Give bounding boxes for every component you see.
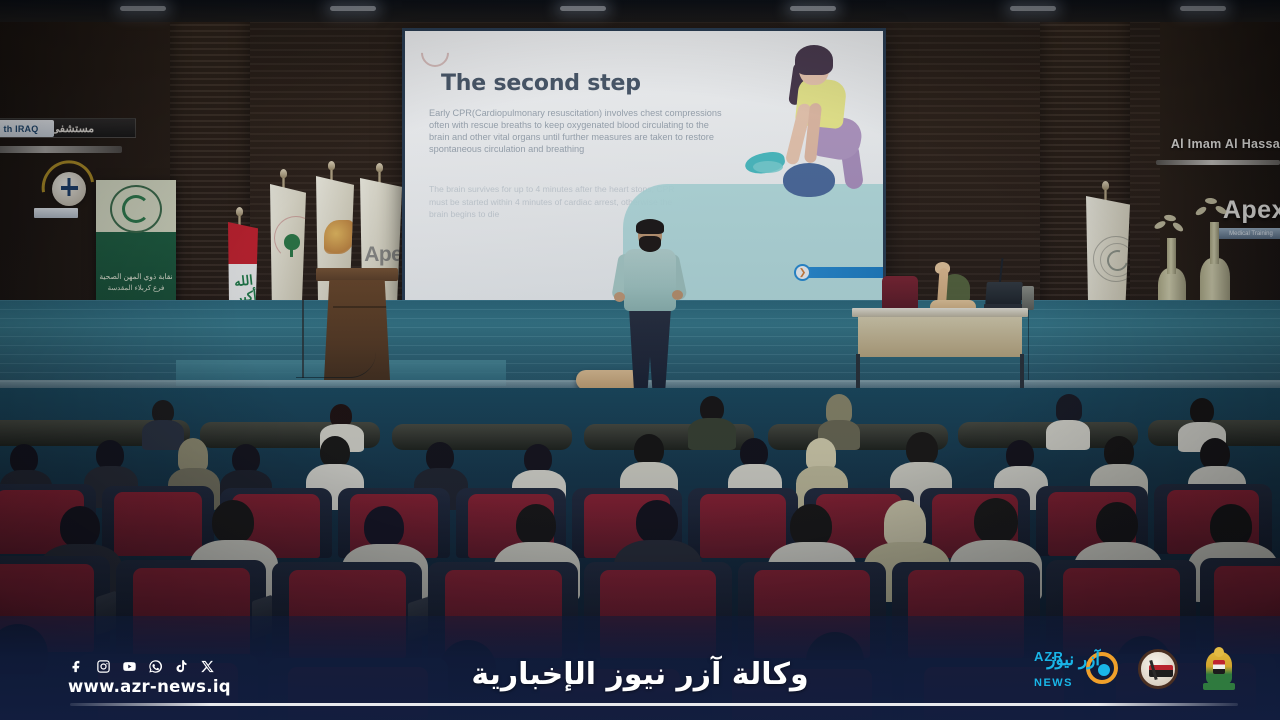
presenter-trousers <box>629 308 671 392</box>
ceiling-light <box>330 6 376 11</box>
ceiling-light <box>790 6 836 11</box>
slide-next-arrow-icon[interactable]: ❯ <box>794 264 811 281</box>
x-icon[interactable] <box>200 659 215 674</box>
ceiling-light <box>560 6 606 11</box>
decor-vase-left-neck <box>1167 238 1176 274</box>
whatsapp-icon[interactable] <box>148 659 163 674</box>
wall-sign-english: Al Imam Al Hassan <box>1171 134 1280 154</box>
flag-gold-emblem-icon <box>324 220 354 254</box>
logo-group: AZR آزر نيوز NEWS <box>1034 648 1238 690</box>
ceiling-light <box>1010 6 1056 11</box>
wall-logo-small-plate <box>34 208 78 218</box>
wall-sign-arabic-underline <box>0 146 122 153</box>
podium-trim <box>333 306 389 308</box>
wall-sign-apex: Apex <box>1223 196 1280 225</box>
azr-logo-ar: آزر نيوز <box>1047 650 1100 670</box>
illustration-blanket-highlight <box>753 161 783 173</box>
presenter-hair <box>636 219 664 234</box>
table-apron <box>858 317 1022 357</box>
table-cable <box>1028 300 1042 380</box>
wall-logo-medical-emblem-icon <box>52 172 86 206</box>
slide-title: The second step <box>441 71 641 96</box>
laptop-screen <box>985 282 1023 305</box>
podium-top <box>316 268 398 281</box>
presenter-hand-left <box>614 292 625 302</box>
brand-bar-divider <box>70 703 1238 706</box>
wall-sign-apex-subtitle: Medical Training <box>1218 228 1280 239</box>
ceiling-light <box>1180 6 1226 11</box>
illustration-rescuer-hair <box>795 45 833 75</box>
azr-news-logo: AZR آزر نيوز NEWS <box>1034 648 1116 690</box>
auditorium-seat[interactable] <box>102 486 214 556</box>
tiktok-icon[interactable] <box>174 659 189 674</box>
youtube-icon[interactable] <box>122 659 137 674</box>
wall-sign-english-underline <box>1156 160 1280 165</box>
photo-canvas: مستشفى الإمام الحسن th IRAQ Al Imam Al H… <box>0 0 1280 720</box>
flag-tree-icon <box>278 234 304 260</box>
instagram-icon[interactable] <box>96 659 111 674</box>
website-url[interactable]: www.azr-news.iq <box>68 677 231 696</box>
agency-calligraphy: وكالة آزر نيوز الإخبارية <box>471 657 808 692</box>
broadcast-brand-bar: www.azr-news.iq وكالة آزر نيوز الإخبارية… <box>0 616 1280 720</box>
table-top <box>852 308 1028 317</box>
slide-paragraph-1: Early CPR(Cardiopulmonary resuscitation)… <box>429 107 729 155</box>
dried-flowers-right <box>1194 196 1228 226</box>
slide-cpr-illustration <box>757 45 877 221</box>
presenter-shirt <box>624 249 676 311</box>
illustration-patient <box>783 163 835 197</box>
press-emblem-icon <box>1138 649 1178 689</box>
presenter-hand-right <box>672 290 683 300</box>
red-office-chair <box>882 276 918 310</box>
presenter-table <box>852 308 1028 386</box>
slide-arc-decoration-icon <box>415 33 455 73</box>
speaker-box <box>1022 286 1034 310</box>
iraq-coat-of-arms-icon <box>1200 648 1238 690</box>
presenter-beard <box>639 236 661 252</box>
banner-line-2: فرع كربلاء المقدسة <box>96 284 176 292</box>
facebook-icon[interactable] <box>70 659 85 674</box>
wall-logo-iraq-plate: th IRAQ <box>0 120 54 137</box>
dried-flowers-left <box>1152 212 1186 242</box>
ceiling-light <box>120 6 166 11</box>
presenter-person <box>612 222 686 408</box>
banner-line-1: نقابة ذوي المهن الصحية <box>96 272 176 281</box>
ceiling <box>0 0 1280 22</box>
banner-crescent-icon <box>110 185 162 233</box>
azr-logo-news: NEWS <box>1034 677 1073 689</box>
decor-vase-right-neck <box>1210 222 1219 264</box>
social-icons-group <box>70 659 215 674</box>
